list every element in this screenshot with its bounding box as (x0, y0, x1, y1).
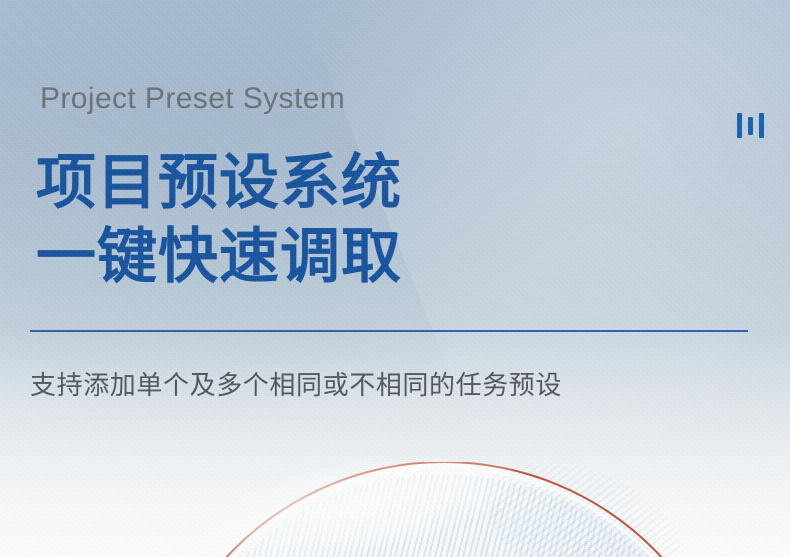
page-title: 项目预设系统 一键快速调取 (36, 146, 402, 294)
logo-bar-middle-icon (748, 117, 753, 135)
promo-banner: Project Preset System 项目预设系统 一键快速调取 支持添加… (0, 0, 790, 557)
eyebrow-title: Project Preset System (40, 82, 345, 116)
dome-specular-highlight (182, 462, 524, 557)
logo-bar-left-icon (737, 113, 742, 138)
dome-frost-cluster (463, 462, 704, 557)
glass-dome-image (148, 462, 738, 557)
dome-copper-rim (148, 462, 738, 557)
logo-bar-right-icon (759, 113, 764, 138)
dome-inner-lip (152, 466, 734, 557)
background-wash-bottom (0, 327, 790, 557)
subtitle-text: 支持添加单个及多个相同或不相同的任务预设 (30, 365, 562, 402)
dome-body (148, 462, 738, 557)
dome-body-shading (174, 502, 712, 557)
headline-line-2: 一键快速调取 (36, 220, 402, 294)
three-bars-logo-icon (737, 112, 765, 138)
divider (30, 330, 748, 332)
dome-frost-texture (160, 474, 726, 557)
headline-line-1: 项目预设系统 (36, 146, 402, 220)
